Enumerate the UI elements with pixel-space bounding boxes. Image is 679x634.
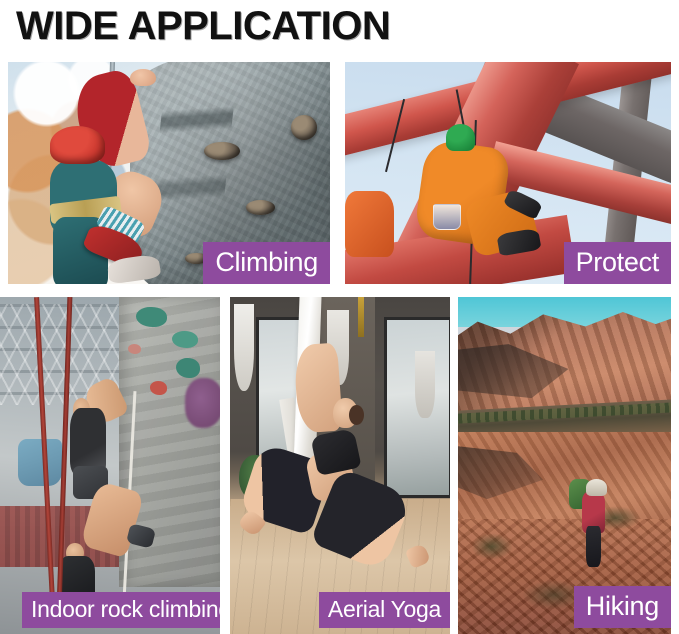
gallery-panel-protect[interactable]: Protect: [345, 62, 671, 284]
climbing-hold: [136, 307, 167, 327]
paint-bucket: [433, 204, 461, 230]
gallery-panel-hiking[interactable]: Hiking: [458, 297, 671, 634]
panel-caption-hiking: Hiking: [574, 586, 671, 628]
red-helmet: [50, 126, 105, 164]
climbing-hold: [246, 200, 275, 216]
hanging-silk: [415, 351, 435, 418]
page-title: WIDE APPLICATION: [16, 2, 390, 50]
yellow-strap: [358, 297, 365, 337]
gallery-panel-climbing[interactable]: Climbing: [8, 62, 330, 284]
climbing-hold: [172, 331, 198, 348]
gallery-panel-indoor-rock-climbing[interactable]: Indoor rock climbing: [0, 297, 220, 634]
climbing-hold: [176, 358, 200, 378]
climbing-hold: [150, 381, 168, 394]
desert-scrub: [471, 533, 514, 560]
green-helmet: [446, 124, 475, 151]
panel-caption-climbing: Climbing: [203, 242, 330, 284]
hiker-hat: [586, 479, 607, 496]
panel-caption-protect: Protect: [564, 242, 671, 284]
foreground-blur: [185, 378, 220, 429]
panel-caption-aerial-yoga: Aerial Yoga: [319, 592, 450, 628]
climbing-hold: [204, 142, 239, 160]
climbing-hold: [291, 115, 317, 139]
hanging-silk: [234, 304, 254, 392]
second-worker: [345, 191, 394, 258]
panel-caption-indoor-rock-climbing: Indoor rock climbing: [22, 592, 220, 628]
hiker-legs: [586, 526, 601, 566]
blue-banner: [18, 439, 62, 486]
gallery-panel-aerial-yoga[interactable]: Aerial Yoga: [230, 297, 450, 634]
climber-hand: [130, 69, 156, 87]
climbing-hold: [128, 344, 141, 354]
yogi-hair-bun: [349, 405, 364, 425]
